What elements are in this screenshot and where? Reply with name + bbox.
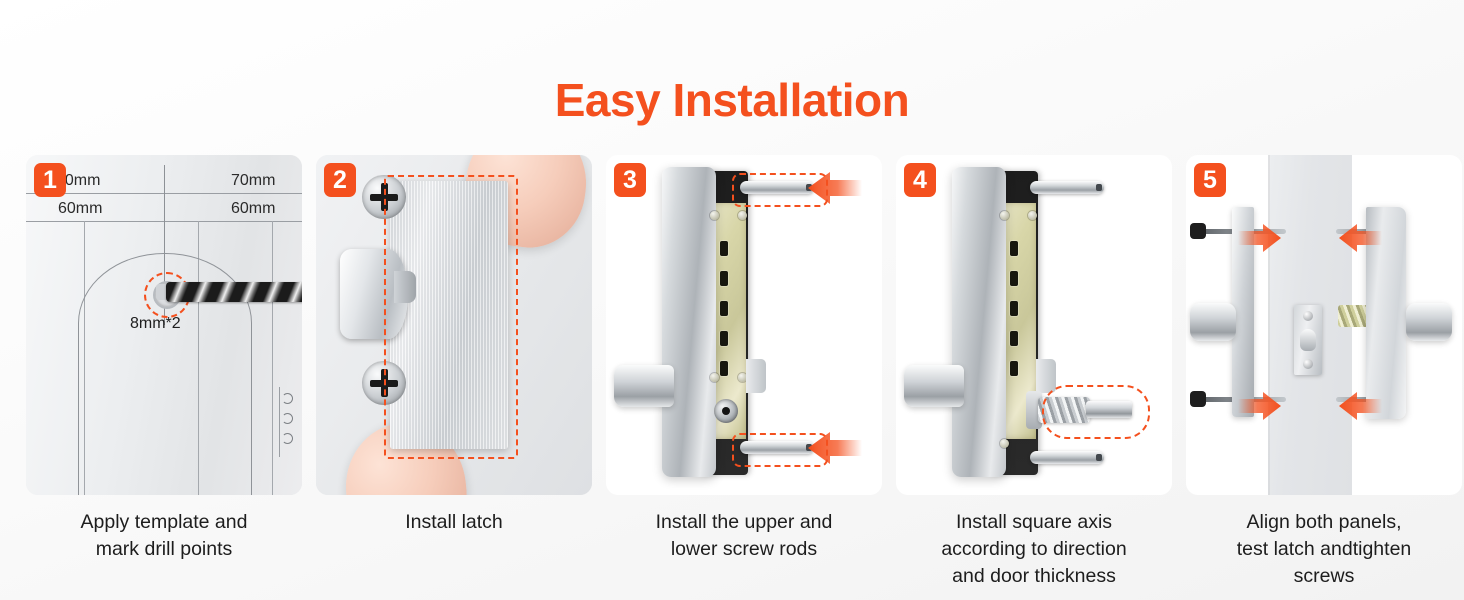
step-5-caption-line-3: screws <box>1186 563 1462 590</box>
lock-slot-2-4 <box>1010 271 1018 286</box>
arrow-align-right-top-icon <box>1338 223 1382 253</box>
step-4-image: 4 <box>896 155 1172 495</box>
mounting-screw-head-bottom <box>1190 391 1206 407</box>
step-2: 2 Install latch <box>316 155 592 590</box>
lock-slot-4-4 <box>1010 331 1018 346</box>
latch-strike-plate <box>1294 305 1322 375</box>
screw-rod-lower-4 <box>1030 451 1104 464</box>
lock-slot-1 <box>720 241 728 256</box>
dimension-bottom-right: 60mm <box>231 199 275 219</box>
step-1-image: 70mm 70mm 60mm 60mm 8mm*2 1 <box>26 155 302 495</box>
strike-screw-bottom <box>1303 359 1313 369</box>
step-1-caption-line-2: mark drill points <box>26 536 302 563</box>
hole-size-label: 8mm*2 <box>130 315 181 333</box>
step-5-caption-line-2: test latch andtighten <box>1186 536 1462 563</box>
lock-housing-4 <box>952 167 1006 477</box>
step-4-caption-line-1: Install square axis <box>896 509 1172 536</box>
step-4-caption-line-2: according to direction <box>896 536 1172 563</box>
arrow-align-right-bottom-icon <box>1338 391 1382 421</box>
dimension-bottom-left: 60mm <box>58 199 102 219</box>
template-fold-line-3 <box>272 221 273 495</box>
installation-steps: 70mm 70mm 60mm 60mm 8mm*2 1 Apply templ <box>26 155 1438 590</box>
step-5-caption: Align both panels, test latch andtighten… <box>1186 509 1462 590</box>
lock-slot-3-4 <box>1010 301 1018 316</box>
arrow-upper-icon <box>806 171 862 205</box>
exterior-knob <box>1406 303 1452 341</box>
lock-small-screw-1 <box>710 211 719 220</box>
step-2-image: 2 <box>316 155 592 495</box>
step-5-caption-line-1: Align both panels, <box>1186 509 1462 536</box>
lock-small-screw-2 <box>738 211 747 220</box>
door-edge <box>1268 155 1270 495</box>
lock-small-screw-1-4 <box>1000 211 1009 220</box>
lock-slot-5 <box>720 361 728 376</box>
step-3: 3 Install the upper and lower screw rods <box>606 155 882 590</box>
side-mark-2 <box>282 413 293 424</box>
template-side-marks <box>279 387 294 457</box>
step-3-image: 3 <box>606 155 882 495</box>
interior-knob <box>1190 303 1236 341</box>
step-2-caption-line-1: Install latch <box>316 509 592 536</box>
lock-slot-1-4 <box>1010 241 1018 256</box>
step-4-caption-line-3: and door thickness <box>896 563 1172 590</box>
lock-cylinder-4 <box>904 365 964 407</box>
latch-highlight-box <box>384 175 518 459</box>
step-3-caption: Install the upper and lower screw rods <box>606 509 882 563</box>
step-1-caption-line-1: Apply template and <box>26 509 302 536</box>
step-5: 5 Align both panels, test latch andtight… <box>1186 155 1462 590</box>
step-badge-1: 1 <box>34 163 66 197</box>
lock-small-screw-3-4 <box>1000 439 1009 448</box>
screw-rod-upper-4 <box>1030 181 1104 194</box>
arrow-align-left-top-icon <box>1238 223 1282 253</box>
lock-side-tab <box>746 359 766 393</box>
lock-small-screw-2-4 <box>1028 211 1037 220</box>
step-badge-5: 5 <box>1194 163 1226 197</box>
step-badge-2: 2 <box>324 163 356 197</box>
step-badge-3: 3 <box>614 163 646 197</box>
easy-installation-infographic: Easy Installation 70mm 70mm 60mm 60mm <box>0 0 1464 600</box>
mounting-screw-head-top <box>1190 223 1206 239</box>
arrow-align-left-bottom-icon <box>1238 391 1282 421</box>
step-1: 70mm 70mm 60mm 60mm 8mm*2 1 Apply templ <box>26 155 302 590</box>
step-4: 4 Install square axis according to direc… <box>896 155 1172 590</box>
lock-small-screw-3 <box>710 373 719 382</box>
page-title: Easy Installation <box>0 72 1464 128</box>
step-2-caption: Install latch <box>316 509 592 536</box>
side-mark-3 <box>282 433 293 444</box>
lock-housing <box>662 167 716 477</box>
step-4-caption: Install square axis according to directi… <box>896 509 1172 590</box>
step-3-caption-line-1: Install the upper and <box>606 509 882 536</box>
step-3-caption-line-2: lower screw rods <box>606 536 882 563</box>
lock-body-assembly-4 <box>952 167 1038 477</box>
lock-slot-4 <box>720 331 728 346</box>
step-1-caption: Apply template and mark drill points <box>26 509 302 563</box>
lock-slot-3 <box>720 301 728 316</box>
side-mark-1 <box>282 393 293 404</box>
square-axis-highlight <box>1042 385 1150 439</box>
drill-bit-icon <box>166 282 302 302</box>
strike-bolt <box>1300 329 1316 351</box>
strike-screw-top <box>1303 311 1313 321</box>
step-5-image: 5 <box>1186 155 1462 495</box>
lock-slot-2 <box>720 271 728 286</box>
lock-slot-5-4 <box>1010 361 1018 376</box>
lock-center-screw <box>714 399 738 423</box>
step-badge-4: 4 <box>904 163 936 197</box>
dimension-top-right: 70mm <box>231 171 275 191</box>
lock-body-assembly <box>662 167 748 477</box>
lock-cylinder <box>614 365 674 407</box>
arrow-lower-icon <box>806 431 862 465</box>
